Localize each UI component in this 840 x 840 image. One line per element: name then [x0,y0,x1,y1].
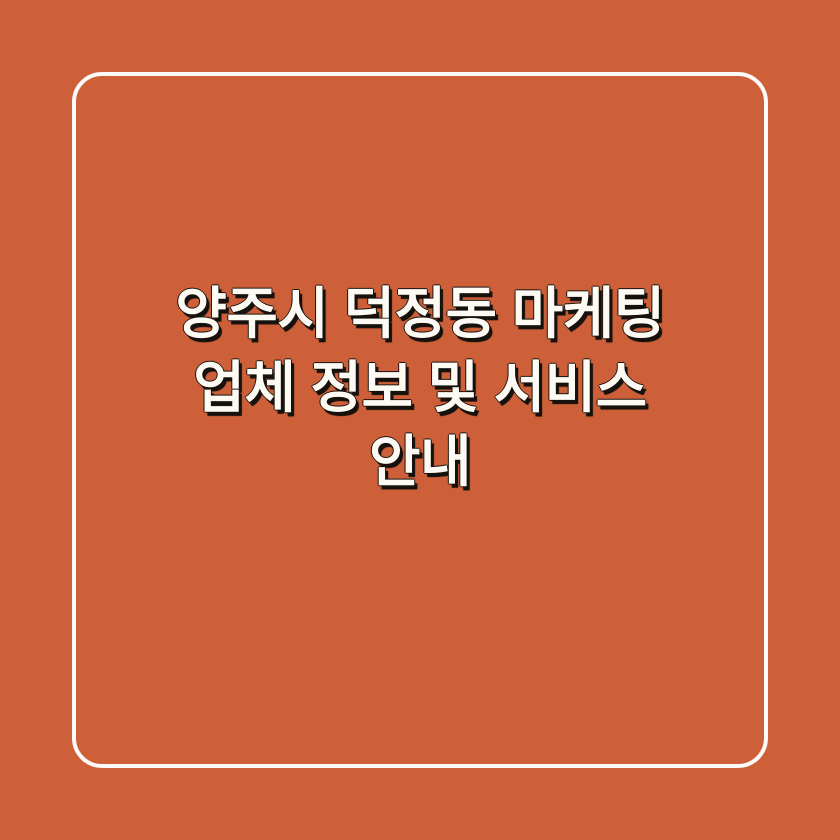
promo-card: 양주시 덕정동 마케팅 업체 정보 및 서비스 안내 [0,0,840,840]
title-line-1: 양주시 덕정동 마케팅 [175,277,664,351]
title-line-3: 안내 [369,425,471,499]
title-line-2: 업체 정보 및 서비스 [193,351,646,425]
card-title-block: 양주시 덕정동 마케팅 업체 정보 및 서비스 안내 [0,0,840,840]
